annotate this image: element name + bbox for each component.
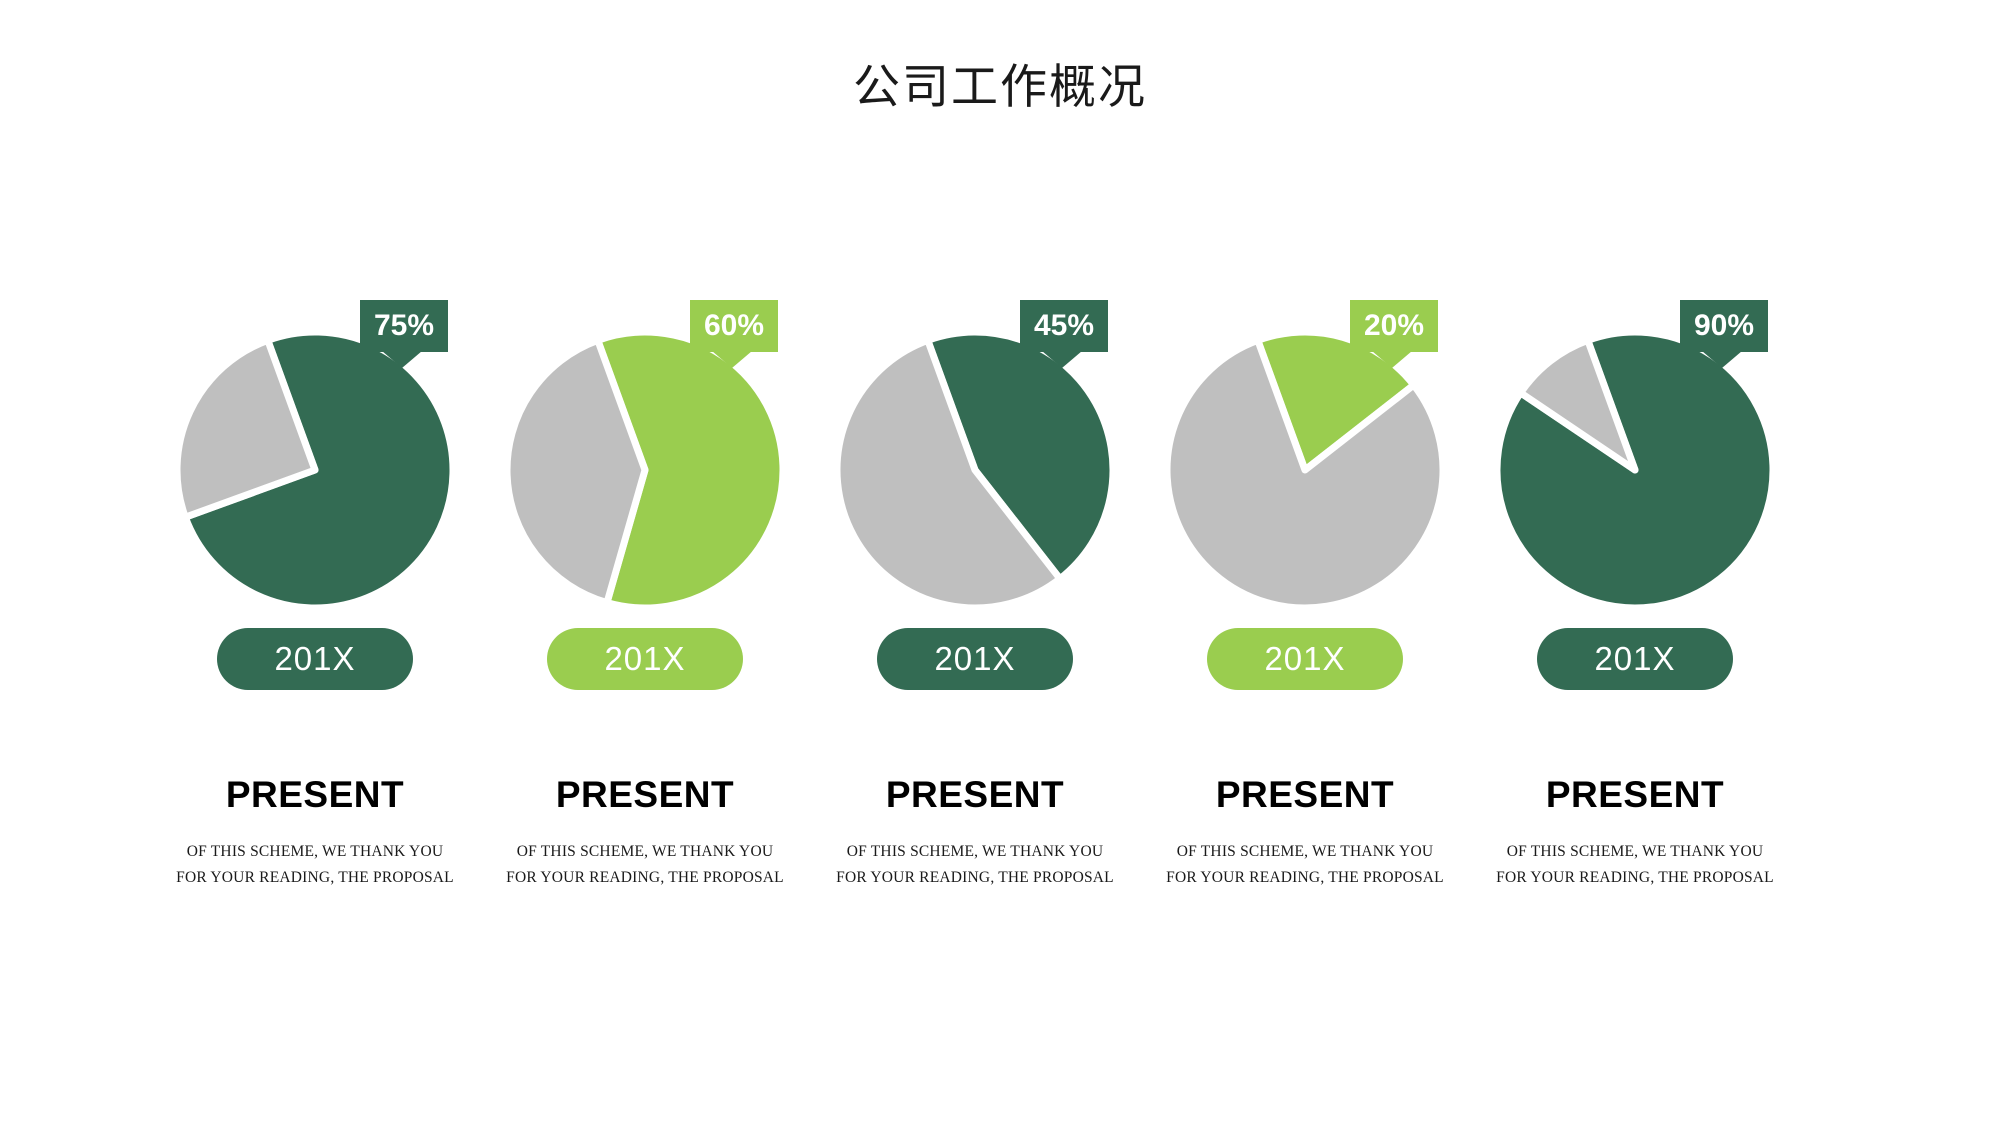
caption-body-3: OF THIS SCHEME, WE THANK YOU FOR YOUR RE… — [835, 839, 1115, 890]
caption-block-1: PRESENT OF THIS SCHEME, WE THANK YOU FOR… — [150, 776, 480, 890]
page-title: 公司工作概况 — [0, 62, 2000, 114]
year-pill-3[interactable]: 201X — [877, 628, 1073, 690]
year-pill-2[interactable]: 201X — [547, 628, 743, 690]
chart-column-4: 20% 201X PRESENT OF THIS SCHEME, WE THAN… — [1140, 300, 1470, 890]
pie-chart-4-svg — [1165, 330, 1445, 610]
pie-chart-5[interactable]: 90% — [1495, 300, 1775, 580]
caption-block-5: PRESENT OF THIS SCHEME, WE THANK YOU FOR… — [1470, 776, 1800, 890]
pie-chart-2-svg — [505, 330, 785, 610]
percent-badge-1: 75% — [360, 300, 448, 352]
caption-body-4: OF THIS SCHEME, WE THANK YOU FOR YOUR RE… — [1165, 839, 1445, 890]
percent-badge-2-label: 60% — [704, 309, 764, 343]
caption-heading-4: PRESENT — [1140, 776, 1470, 813]
chart-column-5: 90% 201X PRESENT OF THIS SCHEME, WE THAN… — [1470, 300, 1800, 890]
caption-heading-1: PRESENT — [150, 776, 480, 813]
caption-heading-2: PRESENT — [480, 776, 810, 813]
percent-badge-1-label: 75% — [374, 309, 434, 343]
caption-body-1: OF THIS SCHEME, WE THANK YOU FOR YOUR RE… — [175, 839, 455, 890]
year-pill-4[interactable]: 201X — [1207, 628, 1403, 690]
chart-column-2: 60% 201X PRESENT OF THIS SCHEME, WE THAN… — [480, 300, 810, 890]
pie-chart-3[interactable]: 45% — [835, 300, 1115, 580]
year-pill-3-label: 201X — [934, 640, 1015, 678]
percent-badge-3: 45% — [1020, 300, 1108, 352]
pie-chart-2[interactable]: 60% — [505, 300, 785, 580]
caption-body-2: OF THIS SCHEME, WE THANK YOU FOR YOUR RE… — [505, 839, 785, 890]
pie-chart-3-svg — [835, 330, 1115, 610]
caption-block-2: PRESENT OF THIS SCHEME, WE THANK YOU FOR… — [480, 776, 810, 890]
percent-badge-4: 20% — [1350, 300, 1438, 352]
percent-badge-5: 90% — [1680, 300, 1768, 352]
percent-badge-4-label: 20% — [1364, 309, 1424, 343]
caption-block-3: PRESENT OF THIS SCHEME, WE THANK YOU FOR… — [810, 776, 1140, 890]
pie-chart-5-svg — [1495, 330, 1775, 610]
year-pill-2-label: 201X — [604, 640, 685, 678]
year-pill-4-label: 201X — [1264, 640, 1345, 678]
caption-heading-5: PRESENT — [1470, 776, 1800, 813]
chart-column-1: 75% 201X PRESENT OF THIS SCHEME, WE THAN… — [150, 300, 480, 890]
caption-body-5: OF THIS SCHEME, WE THANK YOU FOR YOUR RE… — [1495, 839, 1775, 890]
caption-heading-3: PRESENT — [810, 776, 1140, 813]
pie-chart-row: 75% 201X PRESENT OF THIS SCHEME, WE THAN… — [150, 300, 1870, 1000]
pie-chart-1-svg — [175, 330, 455, 610]
pie-chart-1[interactable]: 75% — [175, 300, 455, 580]
caption-block-4: PRESENT OF THIS SCHEME, WE THANK YOU FOR… — [1140, 776, 1470, 890]
pie-chart-4[interactable]: 20% — [1165, 300, 1445, 580]
percent-badge-3-label: 45% — [1034, 309, 1094, 343]
year-pill-1-label: 201X — [274, 640, 355, 678]
year-pill-1[interactable]: 201X — [217, 628, 413, 690]
percent-badge-2: 60% — [690, 300, 778, 352]
year-pill-5-label: 201X — [1594, 640, 1675, 678]
chart-column-3: 45% 201X PRESENT OF THIS SCHEME, WE THAN… — [810, 300, 1140, 890]
percent-badge-5-label: 90% — [1694, 309, 1754, 343]
year-pill-5[interactable]: 201X — [1537, 628, 1733, 690]
